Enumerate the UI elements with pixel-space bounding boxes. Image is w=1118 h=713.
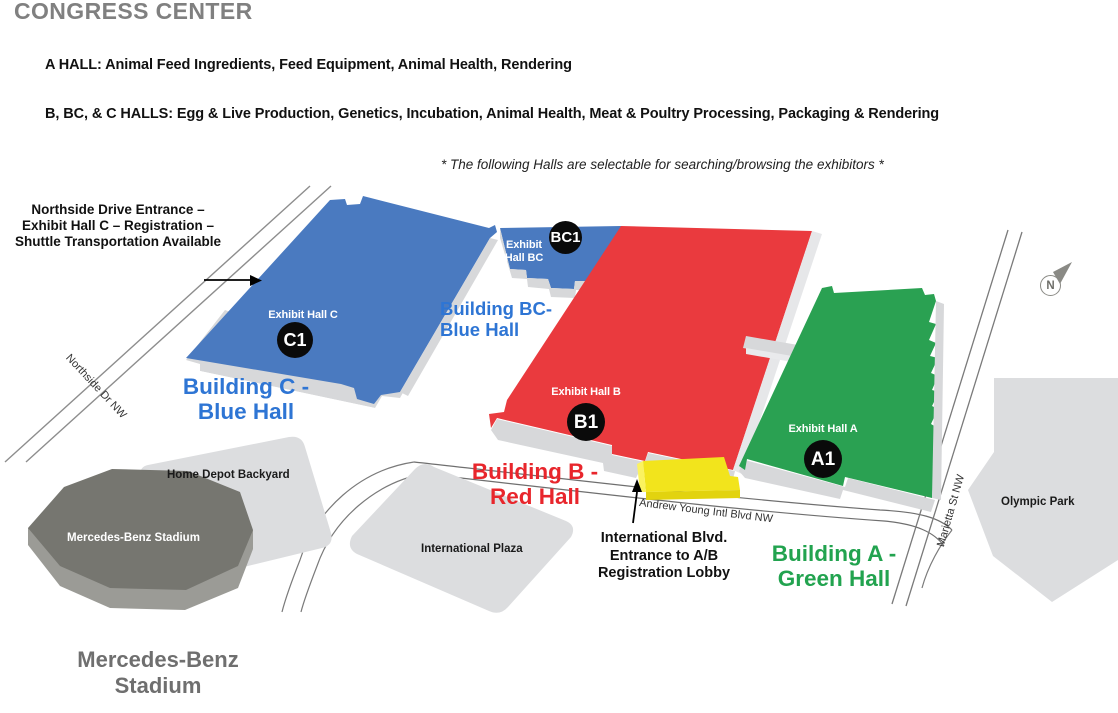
hall-bc-marker-bc1[interactable]: BC1	[549, 221, 582, 254]
northside-entrance-note: Northside Drive Entrance – Exhibit Hall …	[12, 202, 224, 251]
landmark-olympic-park	[968, 378, 1118, 602]
registration-lobby-connector	[637, 457, 740, 500]
hall-c-marker-c1[interactable]: C1	[277, 322, 313, 358]
hall-b-marker-b1[interactable]: B1	[567, 403, 605, 441]
hall-a-title: Building A - Green Hall	[740, 541, 928, 591]
venue-map	[0, 0, 1118, 713]
hall-a-inner-label: Exhibit Hall A	[768, 423, 878, 435]
hall-bc-title-line2: Blue Hall	[440, 319, 519, 340]
hall-bc-inner-label: Exhibit Hall BC	[494, 239, 554, 265]
landmark-label-olympic-park: Olympic Park	[1001, 496, 1075, 508]
landmark-label-home-depot-backyard: Home Depot Backyard	[167, 469, 290, 481]
landmark-label-mercedes-benz-stadium: Mercedes-Benz Stadium	[67, 532, 200, 544]
hall-a-title-line1: Building A -	[772, 541, 897, 566]
northside-entrance-arrow	[204, 275, 262, 286]
hall-b-title-line1: Building B -	[472, 459, 598, 484]
hall-bc-inner-label-line2: Hall BC	[505, 252, 543, 264]
hall-b-title: Building B - Red Hall	[440, 459, 630, 509]
hall-a-marker-a1[interactable]: A1	[804, 440, 842, 478]
hall-c-title: Building C - Blue Hall	[148, 374, 344, 424]
landmark-label-international-plaza: International Plaza	[421, 543, 523, 555]
hall-a-title-line2: Green Hall	[778, 566, 891, 591]
hall-bc-title: Building BC- Blue Hall	[440, 298, 620, 340]
hall-bc-inner-label-line1: Exhibit	[506, 239, 542, 251]
hall-c-title-line1: Building C -	[183, 374, 309, 399]
mercedes-benz-stadium-caption: Mercedes-Benz Stadium	[52, 647, 264, 699]
hall-bc-title-line1: Building BC-	[440, 298, 552, 319]
compass-north-icon: N	[1040, 275, 1061, 296]
hall-c-title-line2: Blue Hall	[198, 399, 294, 424]
hall-c-inner-label: Exhibit Hall C	[248, 309, 358, 321]
hall-b-title-line2: Red Hall	[490, 484, 580, 509]
international-blvd-note: International Blvd. Entrance to A/B Regi…	[583, 530, 745, 583]
hall-b-inner-label: Exhibit Hall B	[531, 386, 641, 398]
